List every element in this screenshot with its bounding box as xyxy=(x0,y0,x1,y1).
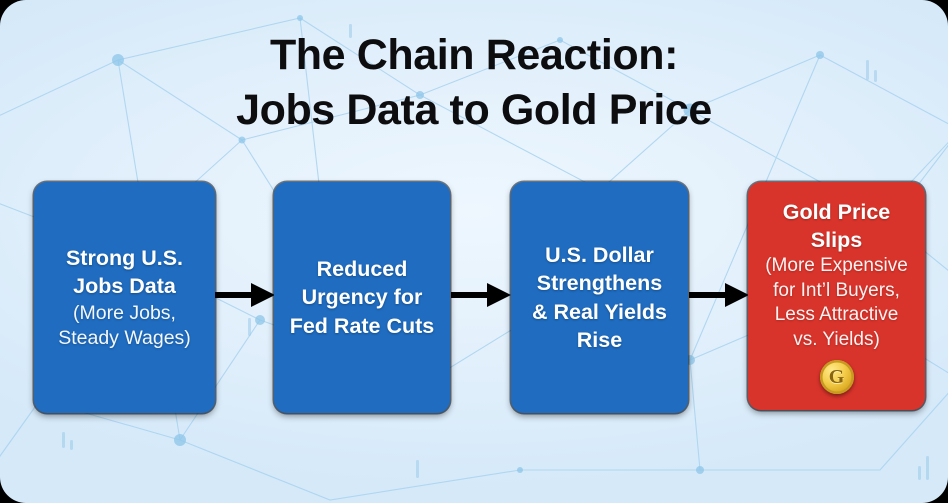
node-main-line: Strengthens xyxy=(532,269,667,297)
title-line-2: Jobs Data to Gold Price xyxy=(0,83,948,138)
flow-node-main-text: Gold Price Slips xyxy=(783,198,891,254)
flow-node-reduced-urgency-fed-rate-cuts[interactable]: Reduced Urgency for Fed Rate Cuts xyxy=(274,182,450,413)
infographic-canvas: The Chain Reaction: Jobs Data to Gold Pr… xyxy=(0,0,948,503)
node-main-line: Jobs Data xyxy=(66,272,183,300)
node-main-line: Reduced xyxy=(290,255,435,283)
node-sub-line: vs. Yields) xyxy=(765,328,908,353)
flow-node-sub-text: (More Jobs, Steady Wages) xyxy=(58,301,191,351)
flow-node-strong-us-jobs-data[interactable]: Strong U.S. Jobs Data (More Jobs, Steady… xyxy=(34,182,215,413)
flow-node-main-text: Strong U.S. Jobs Data xyxy=(66,244,183,300)
node-sub-line: Less Attractive xyxy=(765,303,908,328)
flow-node-gold-price-slips[interactable]: Gold Price Slips (More Expensive for Int… xyxy=(748,182,925,410)
arrow-right-icon-2 xyxy=(451,280,511,310)
node-main-line: & Real Yields xyxy=(532,298,667,326)
node-sub-line: (More Jobs, xyxy=(58,301,191,326)
node-main-line: Slips xyxy=(783,226,891,254)
node-sub-line: (More Expensive xyxy=(765,254,908,279)
flow-node-main-text: U.S. Dollar Strengthens & Real Yields Ri… xyxy=(532,241,667,354)
node-main-line: U.S. Dollar xyxy=(532,241,667,269)
node-main-line: Gold Price xyxy=(783,198,891,226)
title-line-1: The Chain Reaction: xyxy=(0,28,948,83)
arrow-right-icon-3 xyxy=(689,280,749,310)
gold-coin-icon: G xyxy=(820,360,854,394)
node-sub-line: for Int’l Buyers, xyxy=(765,279,908,304)
arrow-right-icon-1 xyxy=(215,280,275,310)
flow-node-sub-text: (More Expensive for Int’l Buyers, Less A… xyxy=(765,254,908,352)
flow-node-us-dollar-strengthens-real-yields-rise[interactable]: U.S. Dollar Strengthens & Real Yields Ri… xyxy=(511,182,688,413)
node-main-line: Urgency for xyxy=(290,283,435,311)
node-sub-line: Steady Wages) xyxy=(58,326,191,351)
gold-coin-glyph: G xyxy=(829,367,845,387)
node-main-line: Strong U.S. xyxy=(66,244,183,272)
flow-node-main-text: Reduced Urgency for Fed Rate Cuts xyxy=(290,255,435,339)
flow-diagram: Strong U.S. Jobs Data (More Jobs, Steady… xyxy=(0,175,948,425)
node-main-line: Fed Rate Cuts xyxy=(290,312,435,340)
node-main-line: Rise xyxy=(532,326,667,354)
page-title: The Chain Reaction: Jobs Data to Gold Pr… xyxy=(0,28,948,138)
